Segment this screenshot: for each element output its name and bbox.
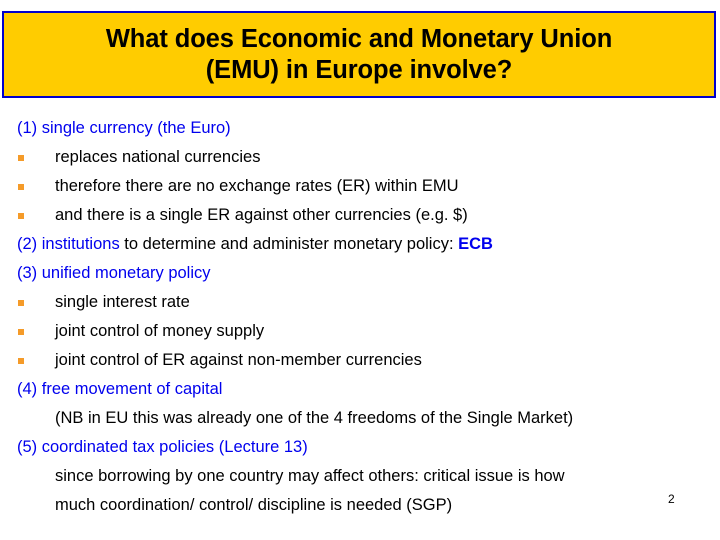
list-item-bullet-5: joint control of money supply (0, 317, 720, 346)
bullet-3-text: and there is a single ER against other c… (55, 206, 468, 224)
list-item-bullet-4: single interest rate (0, 288, 720, 317)
square-bullet-icon (18, 358, 24, 364)
list-item-heading-3: (3) unified monetary policy (0, 259, 720, 288)
list-item-heading-5: (5) coordinated tax policies (Lecture 13… (0, 433, 720, 462)
square-bullet-icon (18, 155, 24, 161)
note-5-text-line-2: much coordination/ control/ discipline i… (55, 496, 452, 514)
heading-1-text: (1) single currency (the Euro) (17, 119, 231, 137)
heading-5-text: (5) coordinated tax policies (Lecture 13… (17, 438, 308, 456)
slide: What does Economic and Monetary Union (E… (0, 0, 720, 540)
slide-body: (1) single currency (the Euro) replaces … (0, 114, 720, 520)
note-item-5-line-2: much coordination/ control/ discipline i… (0, 491, 720, 520)
list-item-heading-2: (2) institutions to determine and admini… (0, 230, 720, 259)
heading-2-body-text: to determine and administer monetary pol… (120, 235, 458, 253)
bullet-4-text: single interest rate (55, 293, 190, 311)
bullet-5-text: joint control of money supply (55, 322, 264, 340)
title-line-2: (EMU) in Europe involve? (206, 55, 512, 86)
square-bullet-icon (18, 213, 24, 219)
square-bullet-icon (18, 184, 24, 190)
bullet-1-text: replaces national currencies (55, 148, 260, 166)
heading-4-text: (4) free movement of capital (17, 380, 222, 398)
list-item-heading-1: (1) single currency (the Euro) (0, 114, 720, 143)
title-banner: What does Economic and Monetary Union (E… (2, 11, 716, 98)
note-item-5-line-1: since borrowing by one country may affec… (0, 462, 720, 491)
bullet-6-text: joint control of ER against non-member c… (55, 351, 422, 369)
square-bullet-icon (18, 329, 24, 335)
list-item-bullet-1: replaces national currencies (0, 143, 720, 172)
heading-2-text: (2) institutions (17, 235, 120, 253)
heading-2-emphasis-ecb: ECB (458, 235, 493, 253)
page-number: 2 (668, 492, 675, 506)
note-5-text-line-1: since borrowing by one country may affec… (55, 467, 565, 485)
square-bullet-icon (18, 300, 24, 306)
heading-3-text: (3) unified monetary policy (17, 264, 211, 282)
note-item-4: (NB in EU this was already one of the 4 … (0, 404, 720, 433)
note-4-text: (NB in EU this was already one of the 4 … (55, 409, 573, 427)
list-item-bullet-3: and there is a single ER against other c… (0, 201, 720, 230)
title-line-1: What does Economic and Monetary Union (106, 24, 612, 55)
list-item-heading-4: (4) free movement of capital (0, 375, 720, 404)
list-item-bullet-2: therefore there are no exchange rates (E… (0, 172, 720, 201)
bullet-2-text: therefore there are no exchange rates (E… (55, 177, 459, 195)
list-item-bullet-6: joint control of ER against non-member c… (0, 346, 720, 375)
